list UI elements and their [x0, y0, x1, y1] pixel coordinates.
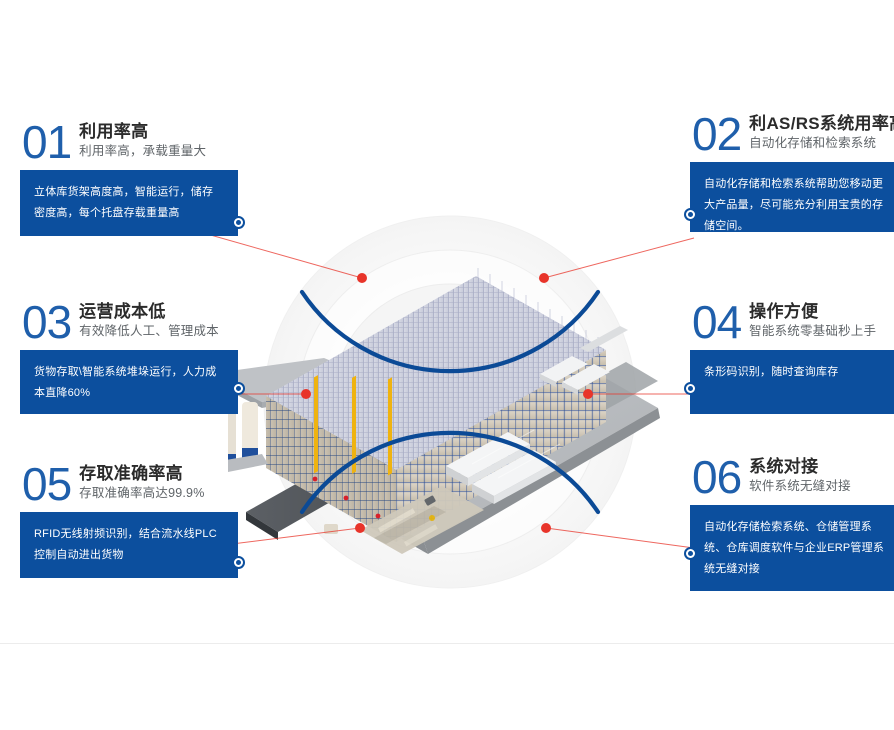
feature-subtitle-04: 智能系统零基础秒上手: [749, 322, 894, 340]
feature-number-04: 04: [692, 300, 741, 344]
feature-header-05: 05 存取准确率高 存取准确率高达99.9%: [20, 462, 238, 506]
feature-block-05[interactable]: 05 存取准确率高 存取准确率高达99.9% RFID无线射频识别，结合流水线P…: [20, 462, 238, 578]
feature-panel-02: 自动化存储和检索系统帮助您移动更大产品量，尽可能充分利用宝贵的存储空间。: [690, 162, 894, 232]
feature-panel-04: 条形码识别，随时查询库存: [690, 350, 894, 414]
feature-body-06: 自动化存储检索系统、仓储管理系统、仓库调度软件与企业ERP管理系统无缝对接: [704, 517, 894, 580]
feature-panel-03: 货物存取\智能系统堆垛运行，人力成本直降60%: [20, 350, 238, 414]
feature-number-03: 03: [22, 300, 71, 344]
feature-header-04: 04 操作方便 智能系统零基础秒上手: [690, 300, 894, 344]
feature-body-03: 货物存取\智能系统堆垛运行，人力成本直降60%: [34, 362, 224, 404]
feature-number-02: 02: [692, 112, 741, 156]
feature-title-01: 利用率高: [79, 121, 238, 142]
feature-body-02: 自动化存储和检索系统帮助您移动更大产品量，尽可能充分利用宝贵的存储空间。: [704, 174, 894, 237]
bottom-divider: [0, 643, 894, 644]
connector-marker-03: [232, 382, 245, 395]
feature-body-04: 条形码识别，随时查询库存: [704, 362, 894, 383]
feature-header-06: 06 系统对接 软件系统无缝对接: [690, 455, 894, 499]
feature-block-04[interactable]: 04 操作方便 智能系统零基础秒上手 条形码识别，随时查询库存: [690, 300, 894, 414]
connector-marker-02: [684, 208, 697, 221]
connector-marker-01: [232, 216, 245, 229]
feature-number-05: 05: [22, 462, 71, 506]
feature-subtitle-03: 有效降低人工、管理成本: [79, 322, 238, 340]
infographic-canvas: 01 利用率高 利用率高，承载重量大 立体库货架高度高，智能运行，储存密度高，每…: [0, 0, 894, 730]
feature-header-02: 02 利AS/RS系统用率高 自动化存储和检索系统: [690, 112, 894, 156]
warehouse-illustration: [228, 212, 672, 592]
feature-title-05: 存取准确率高: [79, 463, 238, 484]
feature-subtitle-02: 自动化存储和检索系统: [749, 134, 894, 152]
feature-subtitle-06: 软件系统无缝对接: [749, 477, 894, 495]
feature-title-02: 利AS/RS系统用率高: [749, 113, 894, 134]
feature-block-02[interactable]: 02 利AS/RS系统用率高 自动化存储和检索系统 自动化存储和检索系统帮助您移…: [690, 112, 894, 232]
feature-panel-01: 立体库货架高度高，智能运行，储存密度高，每个托盘存载重量高: [20, 170, 238, 236]
connector-marker-06: [684, 547, 697, 560]
feature-panel-06: 自动化存储检索系统、仓储管理系统、仓库调度软件与企业ERP管理系统无缝对接: [690, 505, 894, 591]
feature-subtitle-01: 利用率高，承载重量大: [79, 142, 238, 160]
feature-subtitle-05: 存取准确率高达99.9%: [79, 484, 238, 502]
connector-marker-04: [684, 382, 697, 395]
feature-body-01: 立体库货架高度高，智能运行，储存密度高，每个托盘存载重量高: [34, 182, 224, 224]
feature-body-05: RFID无线射频识别，结合流水线PLC控制自动进出货物: [34, 524, 224, 566]
feature-block-03[interactable]: 03 运营成本低 有效降低人工、管理成本 货物存取\智能系统堆垛运行，人力成本直…: [20, 300, 238, 414]
feature-header-01: 01 利用率高 利用率高，承载重量大: [20, 120, 238, 164]
feature-title-03: 运营成本低: [79, 301, 238, 322]
feature-block-06[interactable]: 06 系统对接 软件系统无缝对接 自动化存储检索系统、仓储管理系统、仓库调度软件…: [690, 455, 894, 591]
feature-number-06: 06: [692, 455, 741, 499]
feature-header-03: 03 运营成本低 有效降低人工、管理成本: [20, 300, 238, 344]
feature-title-04: 操作方便: [749, 301, 894, 322]
connector-marker-05: [232, 556, 245, 569]
feature-block-01[interactable]: 01 利用率高 利用率高，承载重量大 立体库货架高度高，智能运行，储存密度高，每…: [20, 120, 238, 236]
feature-number-01: 01: [22, 120, 71, 164]
feature-panel-05: RFID无线射频识别，结合流水线PLC控制自动进出货物: [20, 512, 238, 578]
feature-title-06: 系统对接: [749, 456, 894, 477]
